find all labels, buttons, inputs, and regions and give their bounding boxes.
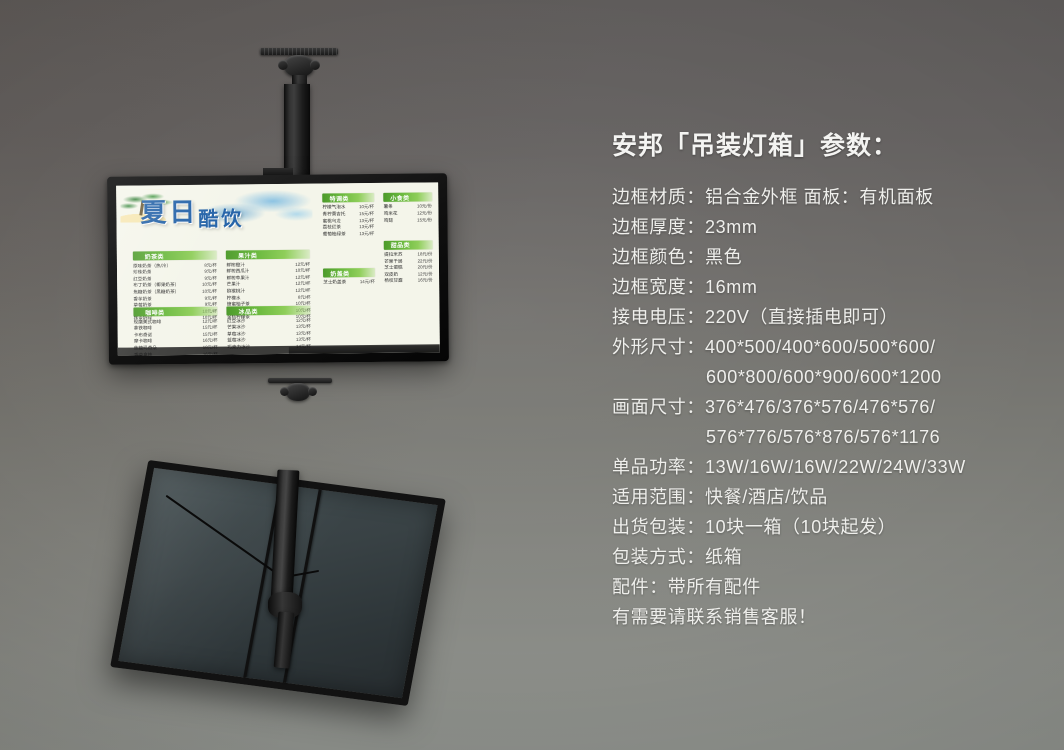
menu-artwork: 夏 日 酷 饮 奶茶类原味奶茶（热/冷）8元/杯珍珠奶茶9元/杯红豆奶茶9元/杯… xyxy=(116,182,440,355)
menu-item-price: 20元/份 xyxy=(418,265,433,271)
menu-section-header: 奶茶类 xyxy=(133,251,217,261)
swivel-joint-icon xyxy=(286,383,310,401)
menu-section-header: 咖啡类 xyxy=(133,307,217,317)
menu-section: 奶盖类芝士奶盖茶14元/杯 xyxy=(323,268,375,286)
spec-line: 外形尺寸：400*500/400*600/500*600/ xyxy=(612,332,1042,362)
menu-item-name: 原味奶茶（热/冷） xyxy=(133,263,171,269)
menu-item-name: 芝士奶盖茶 xyxy=(323,280,346,286)
spec-line: 边框颜色：黑色 xyxy=(612,242,1042,272)
menu-item-name: 红豆奶茶 xyxy=(133,276,151,282)
menu-item-name: 布丁奶茶（椰果奶茶） xyxy=(133,282,179,288)
menu-item-price: 8元/杯 xyxy=(298,294,311,300)
menu-item-price: 18元/份 xyxy=(417,251,432,257)
menu-section: 甜品类提拉米苏18元/份芒果千层22元/份芝士蛋糕20元/份双皮奶12元/份杨枝… xyxy=(384,240,433,284)
menu-item-price: 10元/份 xyxy=(417,204,432,210)
menu-item-name: 芝士蛋糕 xyxy=(384,265,402,271)
menu-item-price: 12元/份 xyxy=(417,210,432,216)
menu-item-row: 杨枝甘露16元/份 xyxy=(384,278,432,285)
menu-item-name: 拿铁咖啡 xyxy=(134,326,152,332)
menu-section-header: 甜品类 xyxy=(384,240,432,250)
menu-item-name: 鸡米花 xyxy=(384,211,398,217)
tilt-knob-icon xyxy=(308,387,317,396)
menu-section-name: 甜品类 xyxy=(391,240,410,249)
menu-item-name: 芒果汁 xyxy=(227,282,241,288)
ceiling-mount-upper xyxy=(248,48,352,188)
spec-line: 出货包装：10块一箱（10块起发） xyxy=(612,512,1042,542)
lightbox-display-area: 夏 日 酷 饮 奶茶类原味奶茶（热/冷）8元/杯珍珠奶茶9元/杯红豆奶茶9元/杯… xyxy=(116,182,440,355)
menu-item-row: 鸡翅15元/份 xyxy=(384,217,432,224)
menu-item-name: 焦糖奶茶（黑糖奶茶） xyxy=(133,289,179,295)
menu-item-name: 蜜桃乌龙 xyxy=(323,218,341,224)
menu-item-name: 红豆冰沙 xyxy=(227,318,245,324)
ceiling-plate-icon xyxy=(260,48,338,55)
spec-line: 包装方式：纸箱 xyxy=(612,542,1042,572)
menu-section-name: 奶茶类 xyxy=(145,251,164,260)
spec-line: 接电电压：220V（直接插电即可） xyxy=(612,302,1042,332)
menu-item-name: 薯条 xyxy=(384,204,393,210)
spec-line: 适用范围：快餐/酒店/饮品 xyxy=(612,482,1042,512)
menu-section-name: 冰品类 xyxy=(239,307,258,316)
menu-item-name: 荔枝红茶 xyxy=(323,225,341,231)
menu-section-name: 咖啡类 xyxy=(145,308,164,317)
menu-section-name: 果汁类 xyxy=(238,251,257,260)
spec-line: 单品功率：13W/16W/16W/22W/24W/33W xyxy=(612,452,1042,482)
menu-item-name: 鸡翅 xyxy=(384,217,393,223)
menu-item-price: 14元/杯 xyxy=(360,279,375,285)
menu-item-name: 双皮奶 xyxy=(384,272,398,278)
menu-item-price: 12元/杯 xyxy=(295,274,310,280)
spec-line: 576*776/576*876/576*1176 xyxy=(612,422,1042,452)
menu-item-name: 柠檬气泡水 xyxy=(322,205,345,211)
menu-item-name: 青柠莫吉托 xyxy=(322,211,345,217)
spec-list: 边框材质：铝合金外框 面板：有机面板边框厚度：23mm边框颜色：黑色边框宽度：1… xyxy=(612,182,1042,632)
menu-item-price: 10元/杯 xyxy=(202,282,217,288)
menu-section-name: 奶盖类 xyxy=(330,268,349,277)
spec-line: 600*800/600*900/600*1200 xyxy=(612,362,1042,392)
spec-title: 安邦「吊装灯箱」参数： xyxy=(612,126,1042,162)
menu-item-name: 葡萄柚绿茶 xyxy=(323,231,346,237)
menu-item-price: 10元/杯 xyxy=(295,268,310,274)
menu-item-name: 柠檬水 xyxy=(227,295,241,301)
menu-item-price: 13元/杯 xyxy=(359,231,374,237)
menu-item-name: 珍珠奶茶 xyxy=(133,270,151,276)
plate-texture xyxy=(260,48,338,55)
menu-item-price: 15元/杯 xyxy=(359,211,374,217)
menu-section-header: 特调类 xyxy=(322,193,374,203)
menu-item-name: 猕猴桃汁 xyxy=(227,288,245,294)
spec-line: 配件：带所有配件 xyxy=(612,572,1042,602)
menu-item-price: 9元/杯 xyxy=(205,295,218,301)
menu-item-name: 香芋奶茶 xyxy=(133,296,151,302)
product-photo-stage: 夏 日 酷 饮 奶茶类原味奶茶（热/冷）8元/杯珍珠奶茶9元/杯红豆奶茶9元/杯… xyxy=(0,0,1064,750)
spec-line: 边框厚度：23mm xyxy=(612,212,1042,242)
menu-item-name: 芒果冰沙 xyxy=(227,325,245,331)
menu-item-price: 15元/杯 xyxy=(203,325,218,331)
spec-panel: 安邦「吊装灯箱」参数： 边框材质：铝合金外框 面板：有机面板边框厚度：23mm边… xyxy=(612,126,1042,632)
menu-item-price: 22元/份 xyxy=(418,258,433,264)
menu-item-name: 提拉米苏 xyxy=(384,252,402,258)
tilt-knob-icon xyxy=(278,60,288,70)
menu-item-price: 12元/杯 xyxy=(295,261,310,267)
menu-item-price: 10元/杯 xyxy=(359,204,374,210)
menu-item-name: 草莓冰沙 xyxy=(227,331,245,337)
menu-item-price: 16元/份 xyxy=(418,278,433,284)
menu-item-price: 13元/杯 xyxy=(359,218,374,224)
tilt-knob-icon xyxy=(280,387,289,396)
menu-item-name: 鲜榨橙汁 xyxy=(226,262,244,268)
menu-section-header: 小食类 xyxy=(383,193,431,203)
tilt-knob-icon xyxy=(310,60,320,70)
menu-section: 特调类柠檬气泡水10元/杯青柠莫吉托15元/杯蜜桃乌龙13元/杯荔枝红茶13元/… xyxy=(322,193,374,238)
menu-item-price: 12元/杯 xyxy=(295,288,310,294)
menu-item-name: 鲜榨苹果汁 xyxy=(227,275,250,281)
menu-section-name: 小食类 xyxy=(390,193,409,202)
menu-item-price: 16元/杯 xyxy=(203,338,218,344)
menu-item-price: 9元/杯 xyxy=(204,269,217,275)
menu-item-name: 蓝莓冰沙 xyxy=(227,338,245,344)
menu-item-price: 8元/杯 xyxy=(204,262,217,268)
spec-line: 边框材质：铝合金外框 面板：有机面板 xyxy=(612,182,1042,212)
lightbox-back-unit xyxy=(128,470,428,695)
menu-section: 小食类薯条10元/份鸡米花12元/份鸡翅15元/份 xyxy=(383,193,432,224)
menu-item-row: 芝士奶盖茶14元/杯 xyxy=(323,279,375,286)
menu-item-name: 现磨美式咖啡 xyxy=(134,319,162,325)
menu-item-name: 卡布奇诺 xyxy=(134,332,152,338)
lightbox-front: 夏 日 酷 饮 奶茶类原味奶茶（热/冷）8元/杯珍珠奶茶9元/杯红豆奶茶9元/杯… xyxy=(107,173,449,365)
menu-item-name: 鲜榨西瓜汁 xyxy=(226,268,249,274)
menu-item-row: 葡萄柚绿茶13元/杯 xyxy=(323,231,375,238)
spec-line: 边框宽度：16mm xyxy=(612,272,1042,302)
spec-line: 有需要请联系销售客服！ xyxy=(612,602,1042,632)
spec-line: 画面尺寸：376*476/376*576/476*576/ xyxy=(612,392,1042,422)
menu-section-header: 奶盖类 xyxy=(323,268,375,278)
menu-item-name: 芒果千层 xyxy=(384,258,402,264)
menu-item-price: 9元/杯 xyxy=(204,275,217,281)
menu-section-header: 果汁类 xyxy=(226,250,310,260)
menu-item-price: 13元/杯 xyxy=(359,224,374,230)
menu-section-name: 特调类 xyxy=(329,193,348,202)
menu-item-price: 12元/杯 xyxy=(202,318,217,324)
menu-item-price: 10元/杯 xyxy=(202,289,217,295)
menu-item-name: 杨枝甘露 xyxy=(384,278,402,284)
menu-item-name: 摩卡咖啡 xyxy=(134,339,152,345)
menu-item-price: 15元/份 xyxy=(417,217,432,223)
menu-item-price: 12元/杯 xyxy=(295,281,310,287)
